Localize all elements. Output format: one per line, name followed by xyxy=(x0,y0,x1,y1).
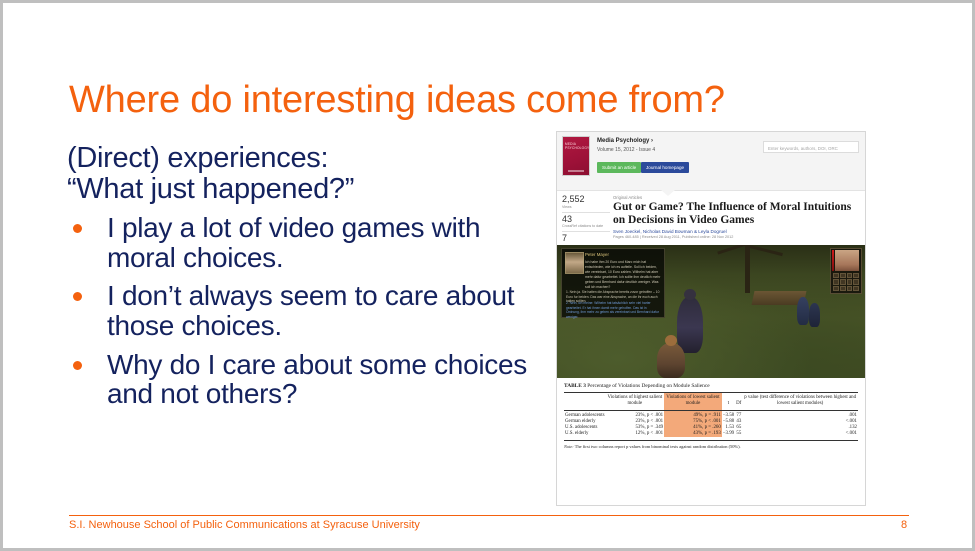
search-input[interactable]: Enter keywords, authors, DOI, ORC xyxy=(763,141,859,153)
table-caption-text: Percentage of Violations Depending on Mo… xyxy=(587,383,709,389)
cell-highest: 12%, p < .001 xyxy=(606,431,665,437)
bullet-dot-icon xyxy=(73,224,82,233)
inventory-slot[interactable] xyxy=(840,273,846,278)
inventory-slot[interactable] xyxy=(847,279,853,284)
metric-value: 43 xyxy=(562,215,610,225)
bullet-text: I play a lot of video games with moral c… xyxy=(107,212,480,273)
cell-df: 77 xyxy=(735,410,742,418)
cell-df: 43 xyxy=(735,418,742,424)
article-kicker: Original Articles xyxy=(613,195,861,200)
cell-t: −5.88 xyxy=(722,418,735,424)
inventory-slot[interactable] xyxy=(840,286,846,291)
cell-p: .001 xyxy=(742,410,858,418)
violations-table: Violations of highest salient module Vio… xyxy=(564,392,858,437)
player-character xyxy=(677,297,703,353)
npc-character xyxy=(797,297,809,325)
lead-line-1: (Direct) experiences: xyxy=(67,143,547,174)
cell-t: −3.99 xyxy=(722,431,735,437)
bullet-dot-icon xyxy=(73,292,82,301)
inventory-slot[interactable] xyxy=(833,273,839,278)
bullet-text: I don’t always seem to care about those … xyxy=(107,280,514,341)
slide-body: (Direct) experiences: “What just happene… xyxy=(67,143,547,418)
speaker-portrait xyxy=(565,252,584,274)
dialogue-option-2[interactable]: 2. Nein, ich meine: Wilhelm hat tatsächl… xyxy=(566,301,661,319)
col-header-df: Df xyxy=(735,393,742,411)
journal-homepage-button[interactable]: Journal homepage xyxy=(641,162,689,173)
metric-value: 2,552 xyxy=(562,195,610,205)
journal-article-screenshot: MEDIA PSYCHOLOGY Media Psychology › Volu… xyxy=(556,131,866,506)
health-bar xyxy=(832,250,834,271)
article-metrics: 2,552 Views 43 CrossRef citations to dat… xyxy=(562,195,610,244)
bullet-text: Why do I care about some choices and not… xyxy=(107,349,527,410)
cell-p: <.001 xyxy=(742,431,858,437)
table-note-label: Note: xyxy=(564,444,574,449)
bullet-list: I play a lot of video games with moral c… xyxy=(67,213,547,409)
cell-highest: 23%, p < .001 xyxy=(606,410,665,418)
inventory-slot[interactable] xyxy=(847,286,853,291)
metric-label: CrossRef citations to date xyxy=(562,224,610,232)
speaker-name: Peter Mayer xyxy=(585,252,609,257)
page-number: 8 xyxy=(901,519,907,531)
submit-article-button[interactable]: Submit an article xyxy=(597,162,641,173)
inventory-slots[interactable] xyxy=(833,273,859,291)
journal-name[interactable]: Media Psychology › xyxy=(597,138,653,144)
metric-label: Views xyxy=(562,205,610,213)
journal-cover-bar xyxy=(568,170,584,172)
results-table-figure: TABLE 3 Percentage of Violations Dependi… xyxy=(557,378,865,453)
lead-line-2: “What just happened?” xyxy=(67,174,547,205)
video-game-screenshot: Peter Mayer Ich habe ihm 20 Euro und Mar… xyxy=(557,245,865,378)
dialogue-text: Ich habe ihm 20 Euro und Marc mich hat e… xyxy=(585,260,661,290)
table-body: German adolescents 23%, p < .001 49%, p … xyxy=(564,410,858,437)
cell-df: 65 xyxy=(735,424,742,430)
article-summary: 2,552 Views 43 CrossRef citations to dat… xyxy=(557,191,865,245)
col-header-t: t xyxy=(722,393,735,411)
foreground-character xyxy=(657,343,685,378)
tree-trunk xyxy=(745,245,750,293)
search-placeholder: Enter keywords, authors, DOI, ORC xyxy=(764,142,858,151)
journal-cover-image: MEDIA PSYCHOLOGY xyxy=(562,136,590,176)
inventory-slot[interactable] xyxy=(833,279,839,284)
footer-text: S.I. Newhouse School of Public Communica… xyxy=(69,519,420,531)
table-row: German adolescents 23%, p < .001 49%, p … xyxy=(564,410,858,418)
article-headline-block: Original Articles Gut or Game? The Influ… xyxy=(613,195,865,239)
inventory-slot[interactable] xyxy=(853,286,859,291)
cell-group: German adolescents xyxy=(564,410,606,418)
col-header-highest: Violations of highest salient module xyxy=(606,393,665,411)
col-header-lowest: Violations of lowest salient module xyxy=(664,393,722,411)
table-header: Violations of highest salient module Vio… xyxy=(564,393,858,411)
character-hud xyxy=(830,248,862,294)
inventory-slot[interactable] xyxy=(853,273,859,278)
metric-value: 7 xyxy=(562,234,610,244)
character-portrait xyxy=(835,250,859,271)
article-pages: Pages 460-485 | Received 28 Aug 2011, Pu… xyxy=(613,235,861,239)
list-item: I don’t always seem to care about those … xyxy=(67,281,547,340)
inventory-slot[interactable] xyxy=(853,279,859,284)
cell-lowest: 49%, p = .911 xyxy=(664,410,722,418)
journal-header: MEDIA PSYCHOLOGY Media Psychology › Volu… xyxy=(557,132,865,191)
presentation-slide: Where do interesting ideas come from? (D… xyxy=(0,0,975,551)
table-row: U.S. elderly 12%, p < .001 43%, p = .193… xyxy=(564,431,858,437)
inventory-slot[interactable] xyxy=(847,273,853,278)
col-header-pvalue: p value (test difference of violations b… xyxy=(742,393,858,411)
dialogue-box: Peter Mayer Ich habe ihm 20 Euro und Mar… xyxy=(561,248,665,318)
list-item: I play a lot of video games with moral c… xyxy=(67,213,547,272)
inventory-slot[interactable] xyxy=(833,286,839,291)
inventory-slot[interactable] xyxy=(840,279,846,284)
list-item: Why do I care about some choices and not… xyxy=(67,350,547,409)
npc-character xyxy=(809,303,820,327)
cell-lowest: 43%, p = .193 xyxy=(664,431,722,437)
tree-branch xyxy=(717,245,746,255)
tree-branch xyxy=(749,245,783,256)
table-header-row: Violations of highest salient module Vio… xyxy=(564,393,858,411)
table-caption: TABLE 3 Percentage of Violations Dependi… xyxy=(564,383,858,389)
page-title: Where do interesting ideas come from? xyxy=(69,80,829,122)
journal-cover-title: MEDIA PSYCHOLOGY xyxy=(565,142,589,150)
journal-volume: Volume 15, 2012 - Issue 4 xyxy=(597,147,655,153)
bullet-dot-icon xyxy=(73,361,82,370)
footer-divider xyxy=(69,515,909,516)
cell-group: U.S. elderly xyxy=(564,431,606,437)
col-header-label xyxy=(564,393,606,411)
article-title[interactable]: Gut or Game? The Influence of Moral Intu… xyxy=(613,201,861,227)
table-note: Note: The first two columns report p val… xyxy=(564,440,858,450)
table-caption-label: TABLE 3 xyxy=(564,383,586,389)
cell-df: 55 xyxy=(735,431,742,437)
cell-t: −3.58 xyxy=(722,410,735,418)
table-note-text: The first two columns report p values fr… xyxy=(575,444,741,449)
article-authors[interactable]: Sven Joeckel, Nicholas David Bowman & Le… xyxy=(613,229,861,234)
